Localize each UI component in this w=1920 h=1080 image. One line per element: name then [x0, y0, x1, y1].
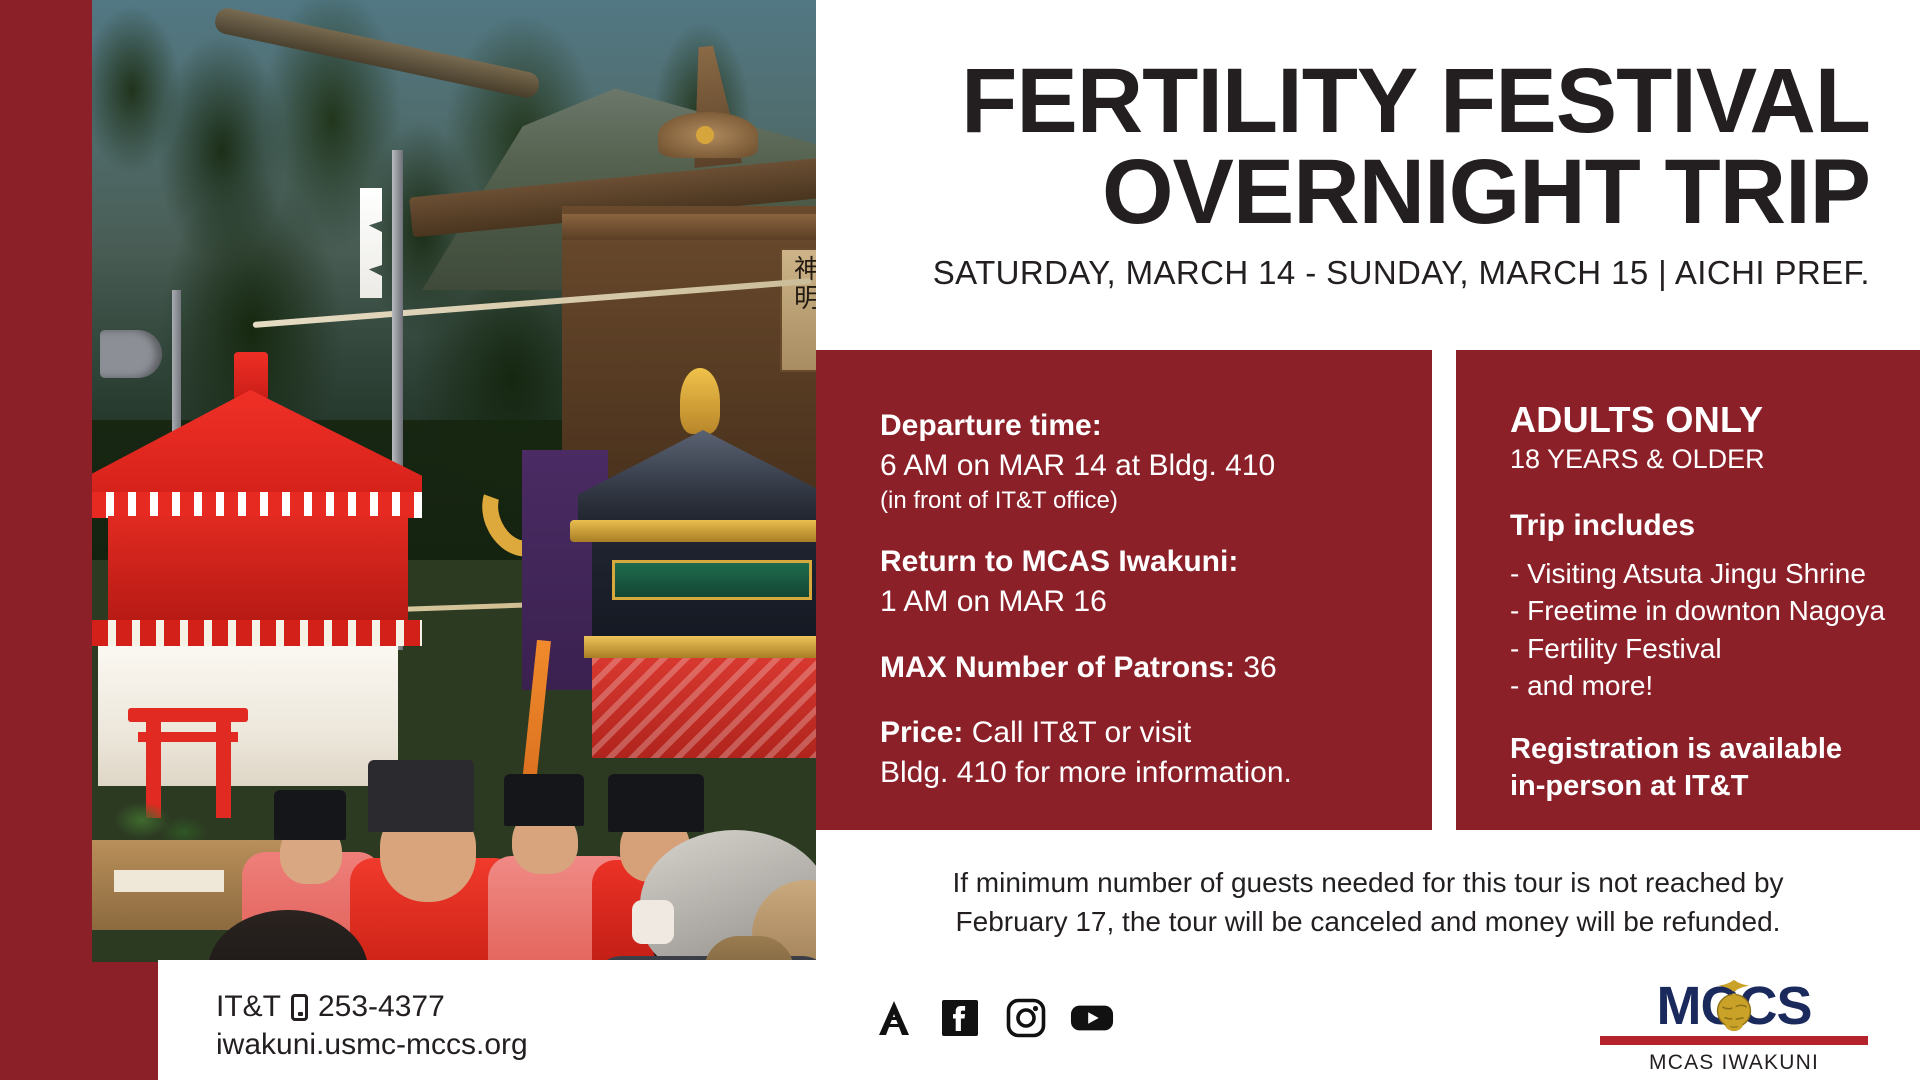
- spacer-3: [880, 687, 1432, 713]
- social-links: [872, 996, 1114, 1040]
- trip-include-item-4: - and more!: [1510, 667, 1920, 705]
- dark-mikoshi-green-panel: [612, 560, 812, 600]
- adults-only-subtitle: 18 YEARS & OLDER: [1510, 443, 1920, 477]
- poster: FERTILITY FESTIVAL OVERNIGHT TRIP SATURD…: [0, 0, 1920, 1080]
- adults-only-panel: ADULTS ONLY 18 YEARS & OLDER Trip includ…: [1456, 350, 1920, 830]
- trip-include-item-2: - Freetime in downton Nagoya: [1510, 592, 1920, 630]
- headline-block: FERTILITY FESTIVAL OVERNIGHT TRIP SATURD…: [816, 0, 1920, 350]
- spacer-4: [1510, 543, 1920, 555]
- price-label: Price:: [880, 716, 963, 749]
- departure-note: (in front of IT&T office): [880, 485, 1432, 516]
- priest-hat-3: [504, 774, 584, 826]
- eagle-globe-anchor-icon: [1703, 976, 1765, 1038]
- priest-hat-2: [368, 760, 474, 832]
- mccs-wordmark: MCCS: [1600, 978, 1868, 1034]
- info-panels: Departure time: 6 AM on MAR 14 at Bldg. …: [816, 350, 1920, 830]
- website-row[interactable]: iwakuni.usmc-mccs.org: [216, 1026, 528, 1064]
- priest-hat-1: [274, 790, 346, 840]
- shide-paper-streamer: [360, 188, 382, 298]
- headline-line-2: OVERNIGHT TRIP: [1102, 149, 1870, 236]
- mccs-logo: MCCS MCAS IWAKUNI: [1600, 978, 1868, 1075]
- price-row: Price: Call IT&T or visit: [880, 713, 1432, 753]
- trip-details-panel: Departure time: 6 AM on MAR 14 at Bldg. …: [816, 350, 1432, 830]
- disclaimer-line-2: February 17, the tour will be canceled a…: [956, 903, 1781, 942]
- max-patrons-label: MAX Number of Patrons:: [880, 651, 1235, 684]
- contact-info: IT&T 253-4377 iwakuni.usmc-mccs.org: [216, 988, 528, 1065]
- departure-value: 6 AM on MAR 14 at Bldg. 410: [880, 446, 1432, 486]
- headline-line-1: FERTILITY FESTIVAL: [961, 58, 1870, 145]
- contact-name: IT&T: [216, 988, 281, 1026]
- departure-label: Departure time:: [880, 406, 1432, 446]
- trip-includes-heading: Trip includes: [1510, 509, 1920, 543]
- crowd-and-priests: [92, 760, 816, 962]
- red-mikoshi-base: [92, 620, 422, 646]
- registration-line-2: in-person at IT&T: [1510, 768, 1920, 805]
- max-patrons-row: MAX Number of Patrons: 36: [880, 648, 1432, 688]
- loudspeaker: [100, 330, 162, 378]
- trip-include-item-3: - Fertility Festival: [1510, 630, 1920, 668]
- facebook-icon[interactable]: [938, 996, 982, 1040]
- phone-icon: [291, 994, 308, 1021]
- price-value-line-1: Call IT&T or visit: [972, 716, 1191, 749]
- disclaimer-block: If minimum number of guests needed for t…: [816, 845, 1920, 960]
- shrine-beam: [562, 214, 816, 240]
- price-value-line-2: Bldg. 410 for more information.: [880, 753, 1432, 793]
- dark-mikoshi-gold-edge: [570, 520, 816, 542]
- dark-mikoshi-red-skirt: [592, 658, 816, 758]
- instagram-icon[interactable]: [1004, 996, 1048, 1040]
- priest-hat-4: [608, 774, 704, 832]
- adults-only-title: ADULTS ONLY: [1510, 398, 1920, 441]
- left-red-band: [0, 0, 92, 1080]
- spacer-2: [880, 622, 1432, 648]
- shrine-gable-medallion: [696, 126, 714, 144]
- red-mikoshi-body: [108, 516, 408, 624]
- shrine-kanji-plaque: [780, 248, 816, 372]
- phone-row: IT&T 253-4377: [216, 988, 528, 1026]
- spacer-1: [880, 516, 1432, 542]
- registration-line-1: Registration is available: [1510, 731, 1920, 768]
- disclaimer-line-1: If minimum number of guests needed for t…: [952, 864, 1783, 903]
- mccs-app-icon[interactable]: [872, 996, 916, 1040]
- dark-mikoshi-gold-base: [584, 636, 816, 658]
- red-mikoshi-fringe: [92, 492, 422, 518]
- max-patrons-value: 36: [1243, 651, 1276, 684]
- dark-mikoshi-finial: [680, 368, 720, 434]
- face-mask: [632, 900, 674, 944]
- return-label: Return to MCAS Iwakuni:: [880, 542, 1432, 582]
- youtube-icon[interactable]: [1070, 996, 1114, 1040]
- headline-subhead: SATURDAY, MARCH 14 - SUNDAY, MARCH 15 | …: [933, 254, 1870, 292]
- footer: IT&T 253-4377 iwakuni.usmc-mccs.org: [158, 960, 1920, 1080]
- phone-number[interactable]: 253-4377: [318, 988, 445, 1026]
- website-url[interactable]: iwakuni.usmc-mccs.org: [216, 1026, 528, 1064]
- return-value: 1 AM on MAR 16: [880, 582, 1432, 622]
- mccs-location: MCAS IWAKUNI: [1600, 1051, 1868, 1075]
- trip-include-item-1: - Visiting Atsuta Jingu Shrine: [1510, 555, 1920, 593]
- festival-photo: [92, 0, 816, 962]
- left-red-band-bottom: [0, 960, 158, 1080]
